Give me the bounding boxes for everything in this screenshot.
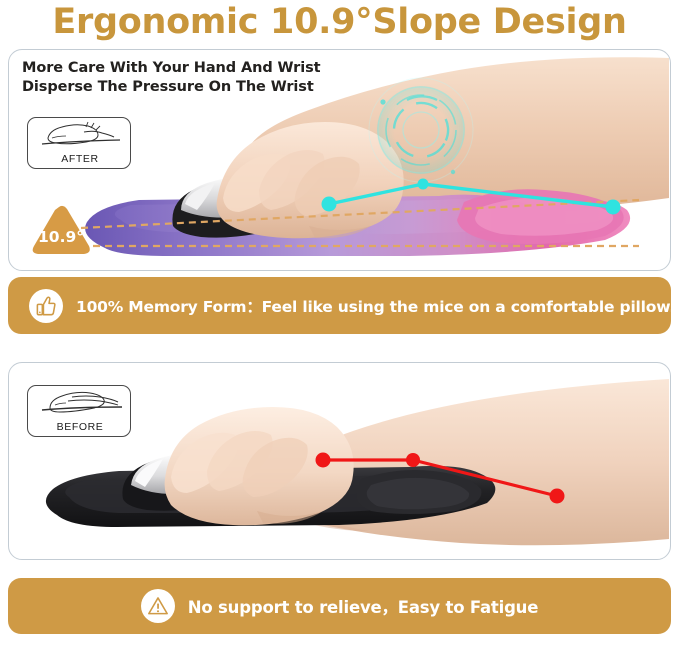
panel-after: More Care With Your Hand And Wrist Dispe… [8, 49, 671, 271]
state-badge-after: AFTER [27, 117, 131, 169]
before-marker-dot-3 [550, 489, 565, 504]
banner-fatigue-warning: No support to relieve，Easy to Fatigue [8, 578, 671, 634]
flat-hand-on-desk-icon [28, 388, 132, 418]
state-badge-after-label: AFTER [28, 153, 132, 165]
after-heading-line-2: Disperse The Pressure On The Wrist [22, 78, 320, 97]
panel-before: BEFORE [8, 362, 671, 560]
banner-memory-foam-text: 100% Memory Form：Feel like using the mic… [76, 295, 675, 317]
warning-triangle-icon [141, 589, 175, 623]
angle-value: 10.9° [29, 228, 93, 246]
before-marker-dot-2 [406, 453, 420, 467]
before-marker-dot-1 [316, 453, 331, 468]
after-marker-dot-2 [418, 179, 429, 190]
after-heading-line-1: More Care With Your Hand And Wrist [22, 59, 320, 78]
hand-on-ergonomic-pad-icon [28, 120, 132, 150]
page-title: Ergonomic 10.9°Slope Design [0, 0, 679, 46]
after-marker-dot-1 [322, 197, 337, 212]
banner-fatigue-warning-text: No support to relieve，Easy to Fatigue [188, 594, 538, 618]
after-marker-dot-3 [606, 200, 621, 215]
after-heading: More Care With Your Hand And Wrist Dispe… [22, 59, 320, 97]
thumbs-up-icon [29, 289, 63, 323]
angle-badge: 10.9° [29, 202, 93, 260]
state-badge-before: BEFORE [27, 385, 131, 437]
banner-memory-foam: 100% Memory Form：Feel like using the mic… [8, 277, 671, 334]
state-badge-before-label: BEFORE [28, 421, 132, 433]
